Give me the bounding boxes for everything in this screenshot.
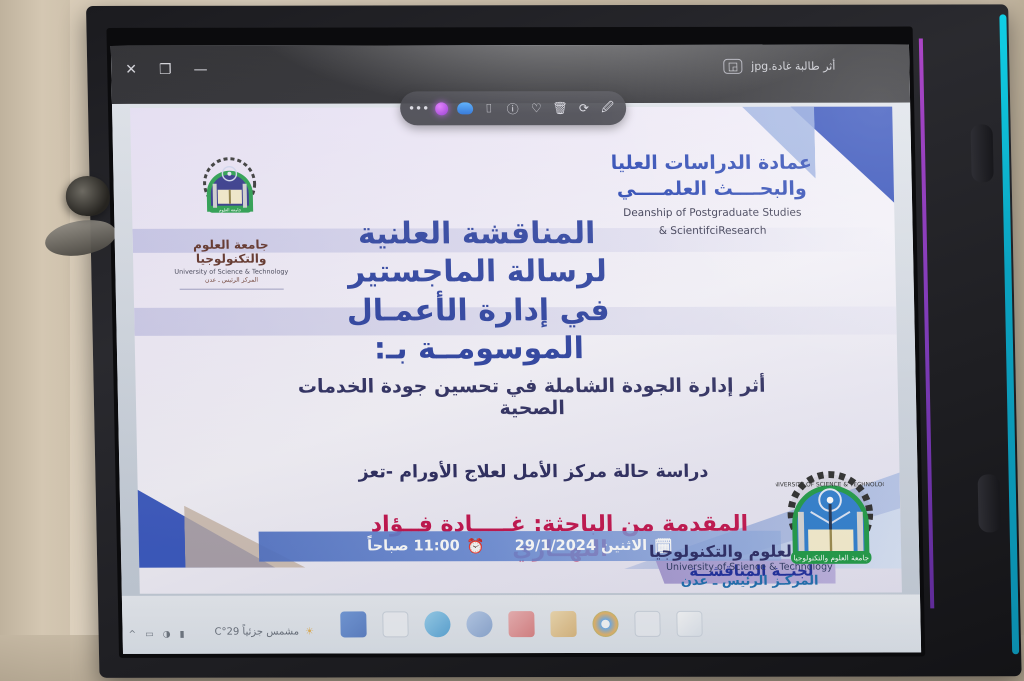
time-text: 11:00 صباحاً: [367, 538, 460, 554]
university-crest-icon: جامعة العلوم: [196, 154, 264, 230]
weather-text: مشمس جزئياً 29°C: [214, 627, 299, 638]
logo-divider: [180, 289, 284, 290]
image-icon: ◲: [724, 59, 743, 74]
svg-text:جامعة العلوم والتكنولوجيا: جامعة العلوم والتكنولوجيا: [793, 553, 869, 562]
more-options-icon[interactable]: •••: [411, 101, 426, 116]
panel-screen: ☀ مشمس جزئياً 29°C ^ ▭ ◑ ▮ ✕ ❐ — أ: [111, 45, 921, 654]
panel-camera: [65, 176, 110, 216]
date-text: الاثنين 29/1/2024: [515, 538, 648, 554]
tray-volume-icon[interactable]: ◑: [163, 630, 171, 640]
highlighter-icon[interactable]: [457, 102, 473, 114]
delete-trash-icon[interactable]: 🗑: [552, 101, 567, 116]
thesis-title: أثر إدارة الجودة الشاملة في تحسين جودة ا…: [285, 375, 778, 420]
minimize-icon[interactable]: —: [193, 62, 207, 78]
pen-icon[interactable]: [435, 102, 448, 115]
university-name-arabic: جامعة العلوم والتكنولوجيا: [167, 238, 296, 266]
university-campus-arabic: المركز الرئيس ـ عدن: [167, 277, 295, 284]
taskbar-search-icon[interactable]: [340, 611, 367, 637]
taskbar-paint-icon[interactable]: [676, 611, 703, 637]
deanship-line2-ar: والبحــــث العلمــــي: [596, 176, 829, 202]
annotation-toolbar[interactable]: ••• ⌷ ⓘ ♡ 🗑 ⟳ 🖉: [400, 91, 627, 125]
case-study-subtitle: دراسة حالة مركز الأمل لعلاج الأورام -تعز: [287, 462, 779, 483]
taskbar-file-explorer-icon[interactable]: [382, 611, 409, 637]
deanship-line1-ar: عمادة الدراسات العليا: [595, 151, 828, 177]
system-tray[interactable]: ^ ▭ ◑ ▮: [129, 630, 185, 640]
tray-chevron-icon[interactable]: ^: [129, 630, 137, 640]
tray-battery-icon[interactable]: ▮: [179, 630, 184, 640]
maximize-icon[interactable]: ❐: [159, 62, 172, 78]
window-controls[interactable]: ✕ ❐ —: [125, 62, 208, 78]
file-name-label: أثر طالبة غادة.jpg: [751, 60, 835, 73]
thesis-defense-poster: جامعة العلوم جامعة العلوم والتكنولوجيا U…: [130, 107, 902, 594]
file-name-chip: أثر طالبة غادة.jpg ◲: [724, 59, 836, 74]
eraser-icon[interactable]: ⌷: [481, 101, 496, 116]
main-title-line1: المناقشة العلنية لرسالة الماجستير: [308, 215, 646, 292]
university-logo-block: جامعة العلوم جامعة العلوم والتكنولوجيا U…: [165, 154, 296, 290]
close-icon[interactable]: ✕: [125, 62, 137, 78]
tray-network-icon[interactable]: ▭: [145, 630, 154, 640]
windows-taskbar[interactable]: [122, 594, 921, 653]
taskbar-weather-widget[interactable]: ☀ مشمس جزئياً 29°C: [214, 626, 314, 637]
info-icon[interactable]: ⓘ: [505, 101, 520, 116]
taskbar-store-icon[interactable]: [466, 611, 493, 637]
interactive-flat-panel: ☀ مشمس جزئياً 29°C ^ ▭ ◑ ▮ ✕ ❐ — أ: [86, 4, 1022, 677]
defense-time: ⏰ 11:00 صباحاً: [367, 538, 485, 555]
poster-main-title: المناقشة العلنية لرسالة الماجستير في إدا…: [308, 215, 647, 369]
taskbar-chrome-icon[interactable]: [592, 611, 619, 637]
main-title-line2: في إدارة الأعمـال الموسومــة بـ:: [310, 292, 648, 369]
favorite-heart-icon[interactable]: ♡: [529, 101, 544, 116]
room-photo-scene: ☀ مشمس جزئياً 29°C ^ ▭ ◑ ▮ ✕ ❐ — أ: [0, 0, 1024, 681]
taskbar-photos-icon[interactable]: [550, 611, 577, 637]
taskbar-calculator-icon[interactable]: [634, 611, 661, 637]
panel-side-button-bottom[interactable]: [978, 474, 1001, 532]
panel-side-button-top[interactable]: [971, 124, 994, 182]
edit-icon[interactable]: 🖉: [600, 101, 615, 116]
weather-sun-icon: ☀: [305, 626, 314, 637]
svg-text:جامعة العلوم: جامعة العلوم: [219, 207, 242, 212]
university-name-english: University of Science & Technology: [167, 268, 295, 276]
rotate-icon[interactable]: ⟳: [576, 101, 591, 116]
taskbar-edge-icon[interactable]: [424, 611, 451, 637]
wall-left-seam: [0, 0, 70, 681]
svg-text:UNIVERSITY OF SCIENCE & TECHNO: UNIVERSITY OF SCIENCE & TECHNOLOGY: [775, 482, 885, 488]
alarm-clock-icon: ⏰: [467, 538, 485, 555]
taskbar-mail-icon[interactable]: [508, 611, 535, 637]
university-crest-badge-icon: جامعة العلوم والتكنولوجيا UNIVERSITY OF …: [775, 469, 885, 577]
